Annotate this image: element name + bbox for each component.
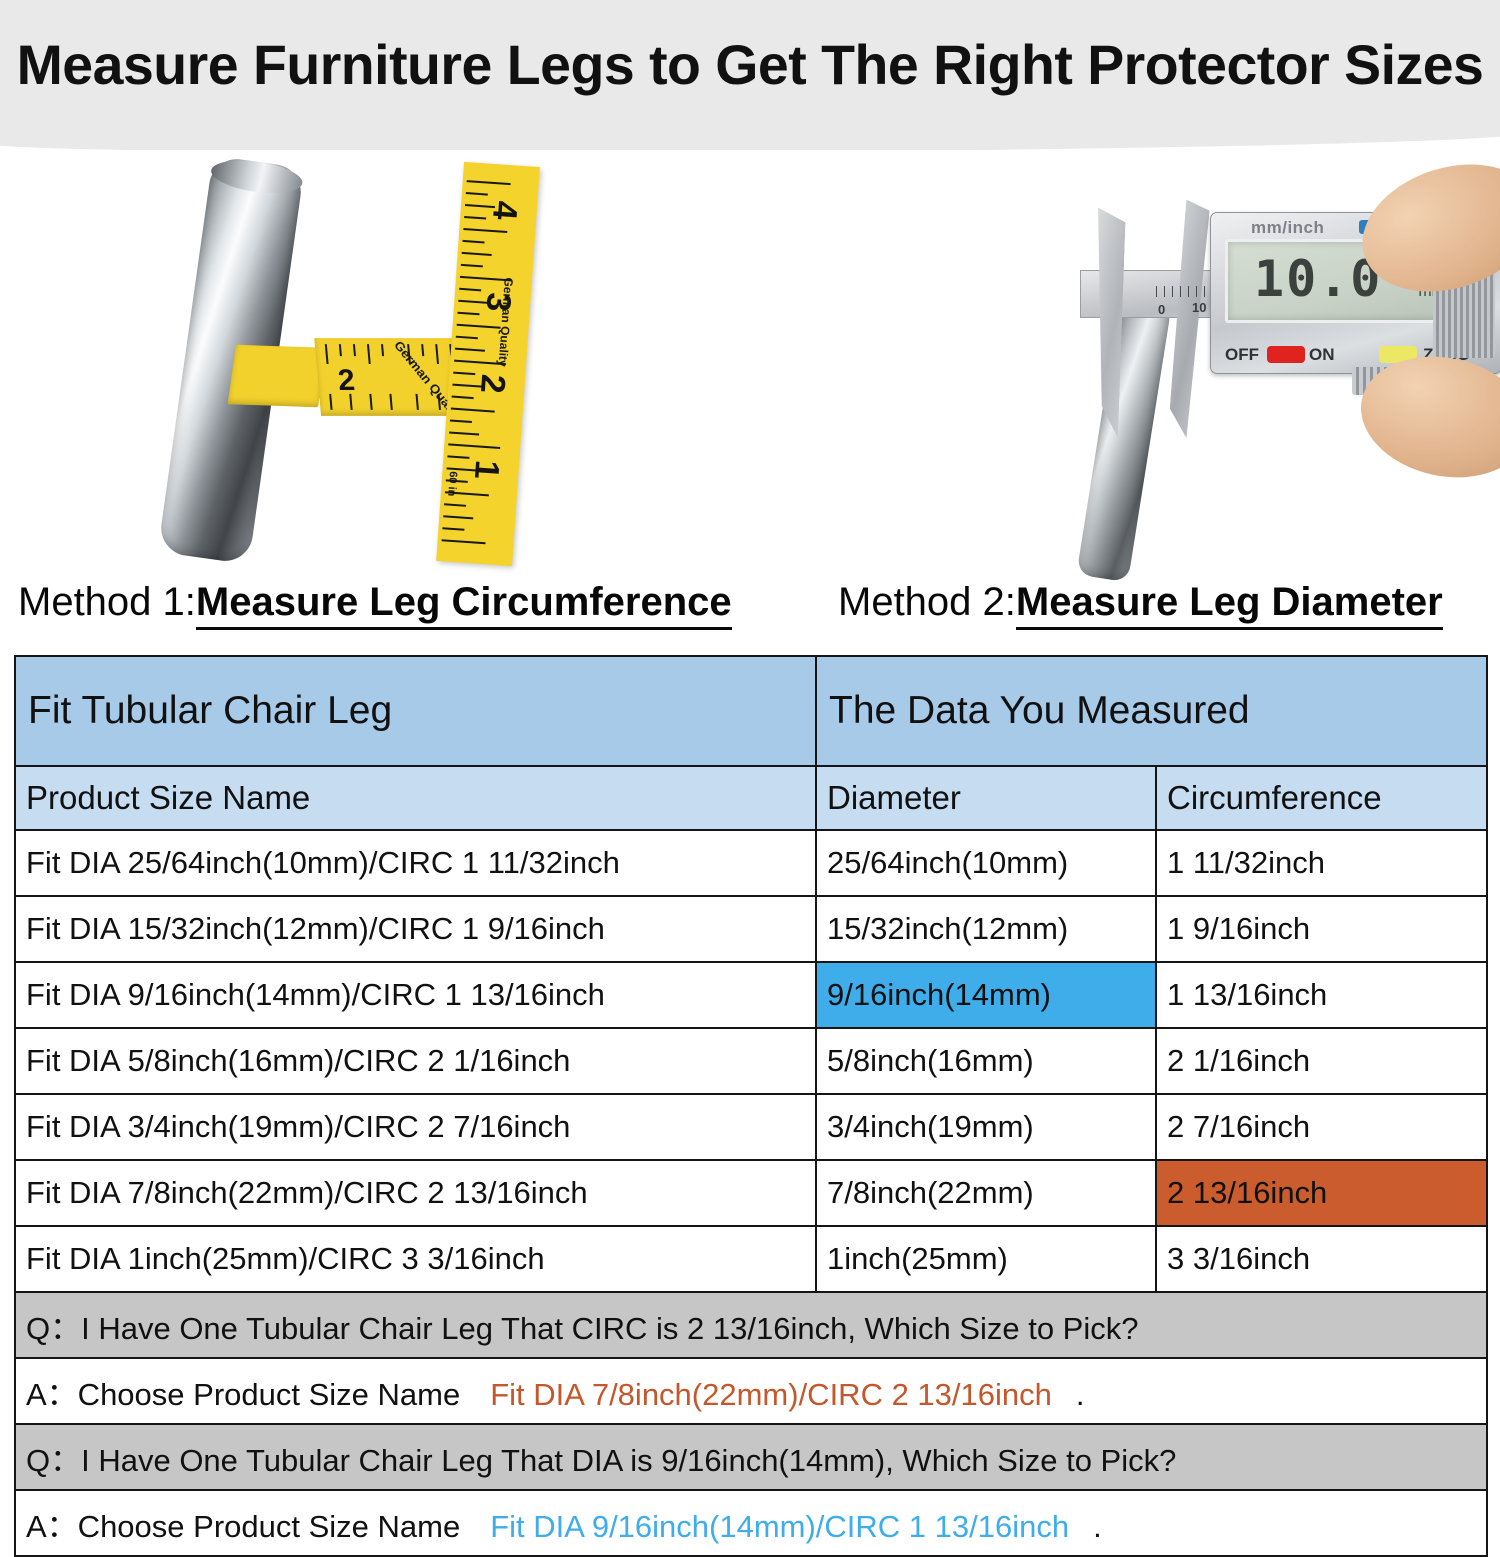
faq-question-row: Q：I Have One Tubular Chair Leg That CIRC… [15,1292,1487,1358]
caliper-mm-inch-label: mm/inch [1251,218,1324,238]
tube-cap [209,156,304,199]
ruler-number-1: 1 [466,459,506,481]
faq-answer-label: A：Choose Product Size Name [26,1509,460,1544]
faq-answer-value: Fit DIA 7/8inch(22mm)/CIRC 2 13/16inch [490,1377,1052,1412]
faq-answer-period: . [1093,1509,1102,1544]
table-header-sub-row: Product Size Name Diameter Circumference [15,766,1487,830]
faq-answer-row: A：Choose Product Size NameFit DIA 7/8inc… [15,1358,1487,1424]
cell-diameter: 1inch(25mm) [816,1226,1156,1292]
faq-answer-cell: A：Choose Product Size NameFit DIA 9/16in… [15,1490,1487,1556]
cell-diameter: 7/8inch(22mm) [816,1160,1156,1226]
cell-circumference: 2 7/16inch [1156,1094,1487,1160]
caliper-scale-ten: 10 [1192,300,1206,315]
table-row: Fit DIA 15/32inch(12mm)/CIRC 1 9/16inch1… [15,896,1487,962]
header-product-size-name: Product Size Name [15,766,816,830]
cell-product-size-name: Fit DIA 15/32inch(12mm)/CIRC 1 9/16inch [15,896,816,962]
ruler-number-4: 4 [484,199,524,221]
caliper-on-label: ON [1309,345,1335,365]
table-header-main-row: Fit Tubular Chair Leg The Data You Measu… [15,656,1487,766]
table-row: Fit DIA 7/8inch(22mm)/CIRC 2 13/16inch7/… [15,1160,1487,1226]
yellow-ruler: 4 3 2 1 German Quality 60 in [436,162,540,566]
table-row: Fit DIA 25/64inch(10mm)/CIRC 1 11/32inch… [15,830,1487,896]
digital-caliper-photo: 0 10 mm/inch 10.0 mm OFF ON ZERO [1040,150,1500,582]
size-chart-table-wrapper: Fit Tubular Chair Leg The Data You Measu… [14,655,1486,1557]
ruler-number-2: 2 [472,373,512,395]
cell-product-size-name: Fit DIA 7/8inch(22mm)/CIRC 2 13/16inch [15,1160,816,1226]
caliper-scale-zero: 0 [1158,302,1165,317]
cell-diameter: 15/32inch(12mm) [816,896,1156,962]
faq-answer-value: Fit DIA 9/16inch(14mm)/CIRC 1 13/16inch [490,1509,1069,1544]
method-labels: Method 1:Measure Leg Circumference Metho… [0,580,1500,642]
method-1-label: Method 1:Measure Leg Circumference [18,580,732,625]
cell-diameter: 25/64inch(10mm) [816,830,1156,896]
photo-strip: 2 German Quality [0,150,1500,582]
method-1-title: Measure Leg Circumference [196,580,732,630]
page-title: Measure Furniture Legs to Get The Right … [8,32,1493,97]
faq-question-text: Q：I Have One Tubular Chair Leg That CIRC… [15,1292,1487,1358]
method-1-prefix: Method 1: [18,580,196,624]
table-row: Fit DIA 3/4inch(19mm)/CIRC 2 7/16inch3/4… [15,1094,1487,1160]
tape-measure-number: 2 [337,364,357,398]
caliper-moving-jaw [1168,199,1211,438]
header-the-data-you-measured: The Data You Measured [816,656,1487,766]
tube-with-tape-measure-photo: 2 German Quality [150,150,620,582]
ruler-brand-label: German Quality [496,277,516,367]
caliper-fixed-jaw [1090,208,1126,439]
caliper-reading-value: 10.0 [1254,250,1382,308]
table-row: Fit DIA 9/16inch(14mm)/CIRC 1 13/16inch9… [15,962,1487,1028]
cell-circumference: 2 1/16inch [1156,1028,1487,1094]
cell-circumference: 1 9/16inch [1156,896,1487,962]
faq-answer-period: . [1076,1377,1085,1412]
tape-measure-wrap [228,345,327,408]
digital-caliper: 0 10 mm/inch 10.0 mm OFF ON ZERO [1060,190,1500,420]
cell-product-size-name: Fit DIA 25/64inch(10mm)/CIRC 1 11/32inch [15,830,816,896]
cell-circumference: 3 3/16inch [1156,1226,1487,1292]
method-2-prefix: Method 2: [838,580,1016,624]
faq-question-row: Q：I Have One Tubular Chair Leg That DIA … [15,1424,1487,1490]
header-diameter: Diameter [816,766,1156,830]
cell-diameter: 3/4inch(19mm) [816,1094,1156,1160]
cell-circumference: 1 11/32inch [1156,830,1487,896]
method-2-title: Measure Leg Diameter [1016,580,1443,630]
header-fit-tubular-chair-leg: Fit Tubular Chair Leg [15,656,816,766]
cell-product-size-name: Fit DIA 5/8inch(16mm)/CIRC 2 1/16inch [15,1028,816,1094]
table-row: Fit DIA 5/8inch(16mm)/CIRC 2 1/16inch5/8… [15,1028,1487,1094]
cell-product-size-name: Fit DIA 9/16inch(14mm)/CIRC 1 13/16inch [15,962,816,1028]
faq-question-text: Q：I Have One Tubular Chair Leg That DIA … [15,1424,1487,1490]
cell-product-size-name: Fit DIA 1inch(25mm)/CIRC 3 3/16inch [15,1226,816,1292]
caliper-off-label: OFF [1225,345,1259,365]
method-2-label: Method 2:Measure Leg Diameter [838,580,1443,625]
cell-diameter: 9/16inch(14mm) [816,962,1156,1028]
cell-product-size-name: Fit DIA 3/4inch(19mm)/CIRC 2 7/16inch [15,1094,816,1160]
faq-answer-row: A：Choose Product Size NameFit DIA 9/16in… [15,1490,1487,1556]
cell-circumference: 2 13/16inch [1156,1160,1487,1226]
ruler-unit-label: 60 in [445,471,459,497]
page-banner: Measure Furniture Legs to Get The Right … [0,0,1500,150]
header-circumference: Circumference [1156,766,1487,830]
cell-circumference: 1 13/16inch [1156,962,1487,1028]
faq-answer-label: A：Choose Product Size Name [26,1377,460,1412]
table-row: Fit DIA 1inch(25mm)/CIRC 3 3/16inch1inch… [15,1226,1487,1292]
faq-answer-cell: A：Choose Product Size NameFit DIA 7/8inc… [15,1358,1487,1424]
cell-diameter: 5/8inch(16mm) [816,1028,1156,1094]
caliper-power-button[interactable] [1267,346,1305,363]
size-chart-table: Fit Tubular Chair Leg The Data You Measu… [14,655,1488,1557]
